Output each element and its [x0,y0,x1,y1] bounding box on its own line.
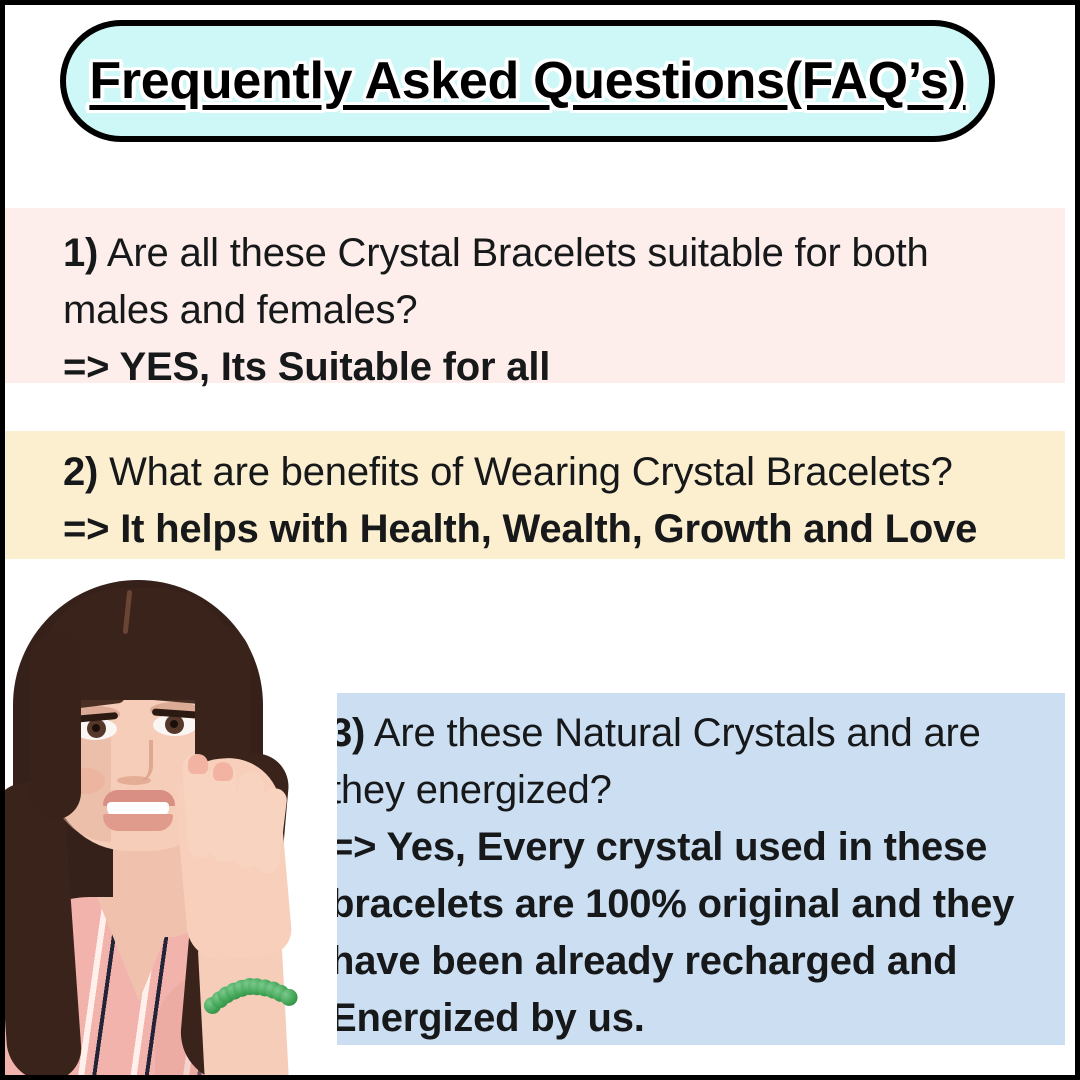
nostrils [117,776,151,785]
lower-lip [103,814,173,831]
fingernail-2 [213,762,233,781]
faq-1-number: 1) [63,231,98,275]
faq-2-number: 2) [63,450,98,494]
faq-poster: Frequently Asked Questions(FAQ’s) 1) Are… [0,0,1080,1080]
faq-2-text: 2) What are benefits of Wearing Crystal … [63,444,1045,558]
pupil-right [170,720,178,728]
faq-3-answer: => Yes, Every crystal used in these brac… [330,819,1045,1047]
faq-header-pill: Frequently Asked Questions(FAQ’s) [60,20,995,142]
faq-item-1: 1) Are all these Crystal Bracelets suita… [5,208,1065,383]
faq-1-answer: => YES, Its Suitable for all [63,339,1045,396]
bracelet-bead [280,988,299,1007]
faq-1-text: 1) Are all these Crystal Bracelets suita… [63,225,1045,396]
model-photo [5,572,337,1080]
hair-side-left [29,630,81,820]
page-title: Frequently Asked Questions(FAQ’s) [89,51,965,111]
fingernail-1 [188,754,208,774]
faq-2-question: What are benefits of Wearing Crystal Bra… [98,450,952,494]
pupil-left [92,724,100,732]
faq-item-2: 2) What are benefits of Wearing Crystal … [5,431,1065,559]
faq-3-text: 3) Are these Natural Crystals and are th… [330,705,1045,1047]
faq-3-question: Are these Natural Crystals and are they … [330,711,981,812]
faq-1-question: Are all these Crystal Bracelets suitable… [63,231,929,332]
faq-2-answer: => It helps with Health, Wealth, Growth … [63,501,1045,558]
